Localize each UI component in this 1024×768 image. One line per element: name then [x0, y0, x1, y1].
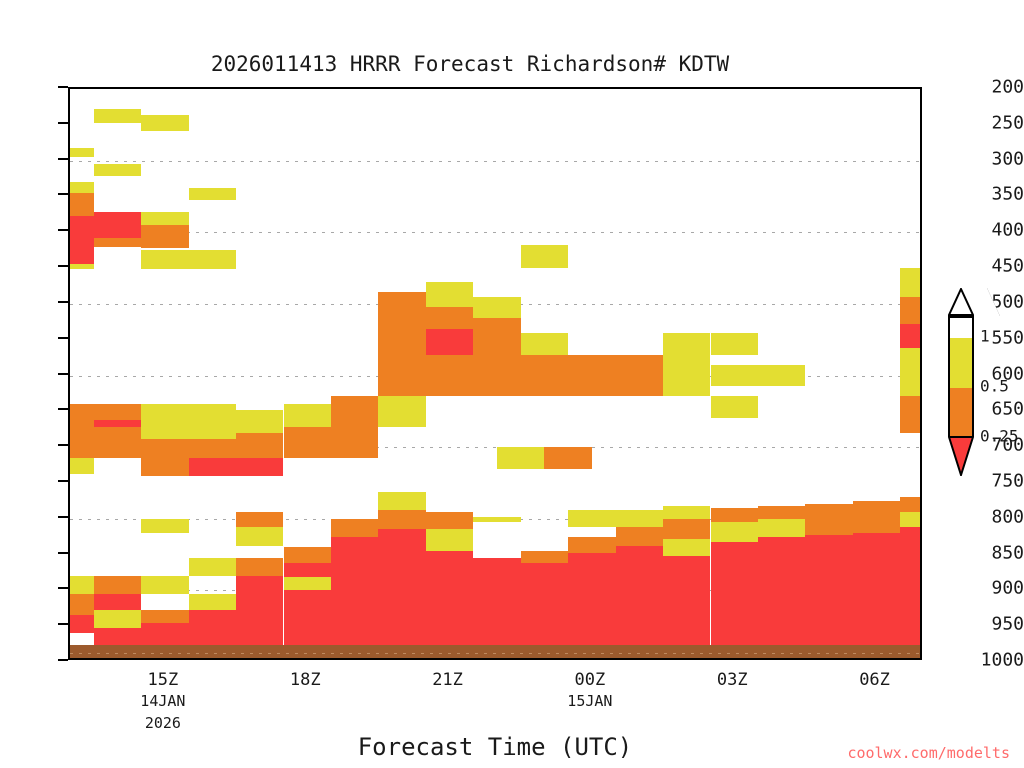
x-axis-title: Forecast Time (UTC): [68, 733, 922, 761]
colorbar-bar: [948, 316, 974, 436]
sounding-plot: [68, 87, 922, 660]
colorbar-segment: [950, 338, 972, 388]
y-tick-label: 900: [964, 578, 1024, 599]
y-tick-mark: [58, 122, 68, 124]
y-tick-mark: [58, 480, 68, 482]
x-tick-label: 00Z: [575, 670, 606, 690]
x-tick-label: 15Z: [148, 670, 179, 690]
x-tick-label: 03Z: [717, 670, 748, 690]
colorbar-tick-label: 0.25: [980, 427, 1019, 446]
y-tick-mark: [58, 337, 68, 339]
y-tick-label: 400: [964, 220, 1024, 241]
x-tick-date: 14JAN: [140, 692, 185, 710]
colorbar-segment: [950, 318, 972, 338]
y-tick-mark: [58, 552, 68, 554]
y-tick-label: 1000: [964, 650, 1024, 671]
terrain-layer: [70, 89, 920, 658]
y-tick-label: 850: [964, 542, 1024, 563]
y-tick-mark: [58, 623, 68, 625]
colorbar-bottom-arrow-icon: [948, 436, 974, 476]
terrain-hatch: [70, 653, 920, 654]
colorbar-top-arrow-outline: [948, 288, 974, 316]
colorbar-tick-label: 1: [980, 327, 990, 346]
y-tick-label: 350: [964, 184, 1024, 205]
x-tick-year: 2026: [145, 714, 181, 732]
y-tick-label: 950: [964, 614, 1024, 635]
page-title: 2026011413 HRRR Forecast Richardson# KDT…: [0, 52, 940, 76]
y-tick-mark: [58, 229, 68, 231]
y-tick-label: 450: [964, 256, 1024, 277]
y-tick-mark: [58, 301, 68, 303]
y-tick-mark: [58, 373, 68, 375]
x-tick-label: 18Z: [290, 670, 321, 690]
y-tick-label: 300: [964, 148, 1024, 169]
y-tick-label: 200: [964, 77, 1024, 98]
y-tick-mark: [58, 516, 68, 518]
y-tick-mark: [58, 158, 68, 160]
y-tick-mark: [58, 265, 68, 267]
y-tick-mark: [58, 444, 68, 446]
x-tick-label: 21Z: [432, 670, 463, 690]
y-tick-mark: [58, 587, 68, 589]
colorbar-segment: [950, 388, 972, 438]
x-tick-label: 06Z: [859, 670, 890, 690]
y-tick-mark: [58, 659, 68, 661]
y-tick-mark: [58, 86, 68, 88]
colorbar-tick-label: 0.5: [980, 377, 1009, 396]
y-tick-label: 800: [964, 506, 1024, 527]
y-tick-label: 250: [964, 112, 1024, 133]
x-tick-date: 15JAN: [567, 692, 612, 710]
watermark: coolwx.com/modelts: [847, 744, 1010, 762]
y-tick-mark: [58, 193, 68, 195]
y-tick-mark: [58, 408, 68, 410]
colorbar-legend: 10.50.25: [940, 286, 1024, 486]
